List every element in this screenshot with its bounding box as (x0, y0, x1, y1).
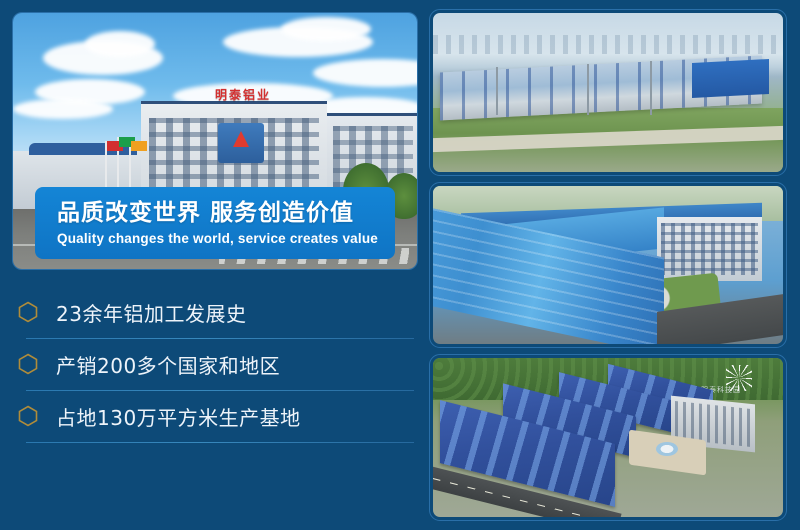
cloud-shape (281, 17, 371, 41)
promo-page: 明泰铝业 品质改变世界 服务创造价值 Quality changes the w (0, 0, 800, 530)
hexagon-bullet-icon (18, 301, 38, 323)
slogan-chinese: 品质改变世界 服务创造价值 (57, 200, 395, 226)
cloud-shape (85, 31, 155, 57)
company-logo-panel (218, 123, 264, 163)
list-item: 产销200多个国家和地区 (12, 338, 418, 390)
flag (131, 141, 147, 151)
list-divider (26, 442, 414, 443)
list-item: 23余年铝加工发展史 (12, 286, 418, 338)
list-item-label: 占地130万平方米生产基地 (56, 402, 301, 431)
city-skyline (433, 35, 783, 54)
list-item-label: 23余年铝加工发展史 (56, 298, 246, 327)
cloud-shape (13, 99, 113, 119)
feature-list: 23余年铝加工发展史 产销200多个国家和地区 占地130万平方米生 (12, 286, 418, 530)
power-pylon (650, 61, 652, 115)
list-item-label: 产销200多个国家和地区 (56, 350, 280, 379)
gallery-column: 明泰科技园 (430, 0, 800, 530)
office-building (657, 217, 762, 280)
aerial-wide-factory-photo (430, 10, 786, 175)
slogan-english: Quality changes the world, service creat… (57, 231, 395, 246)
power-pylon (587, 64, 589, 115)
power-pylon (496, 67, 498, 115)
list-item: 占地130万平方米生产基地 (12, 390, 418, 442)
blue-roof-section (692, 59, 769, 98)
hero-card: 明泰铝业 品质改变世界 服务创造价值 Quality changes the w (12, 12, 418, 270)
slogan-banner: 品质改变世界 服务创造价值 Quality changes the world,… (35, 187, 395, 259)
industrial-park-rendering: 明泰科技园 (430, 355, 786, 520)
hexagon-bullet-icon (18, 353, 38, 375)
building-sign-text: 明泰铝业 (195, 87, 291, 103)
aerial-close-roofs-photo (430, 183, 786, 348)
hexagon-bullet-icon (18, 405, 38, 427)
left-column: 明泰铝业 品质改变世界 服务创造价值 Quality changes the w (0, 0, 430, 530)
